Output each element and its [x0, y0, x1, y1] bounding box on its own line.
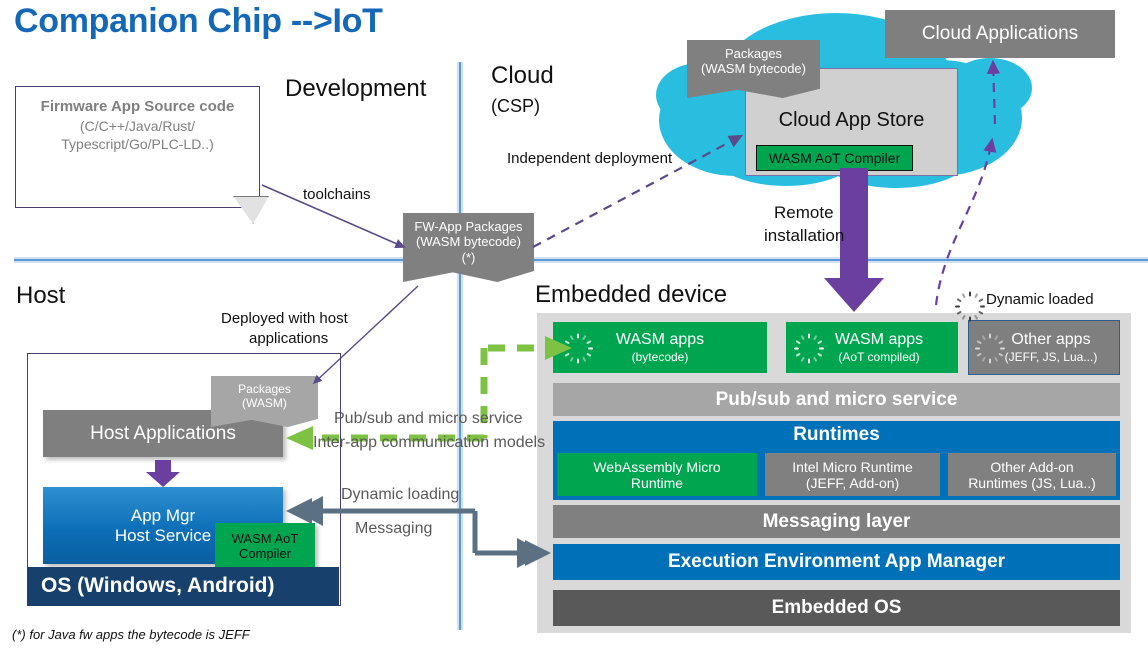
label-messaging: Messaging — [355, 520, 432, 538]
label-inter-app-models: Inter-app communication models — [313, 434, 545, 452]
callout-fw-app-packages: FW-App Packages (WASM bytecode) (*) — [403, 213, 534, 282]
host-packages-line2: (WASM) — [211, 396, 318, 410]
label-toolchains: toolchains — [303, 186, 371, 203]
source-title: Firmware App Source code — [16, 98, 259, 115]
heading-embedded-device: Embedded device — [535, 281, 727, 309]
dynamic-loaded-icon — [569, 333, 587, 351]
embedded-os-label: Embedded OS — [772, 597, 902, 619]
callout-cloud-packages: Packages (WASM bytecode) — [687, 40, 820, 98]
embedded-os-box[interactable]: Embedded OS — [553, 590, 1120, 626]
host-aot-line1: WASM AoT — [232, 531, 299, 546]
source-box-fold-tag — [233, 196, 269, 224]
fw-packages-line1: FW-App Packages — [403, 219, 534, 234]
embedded-app-2-title: Other apps — [1005, 331, 1098, 349]
cloud-wasm-aot-compiler[interactable]: WASM AoT Compiler — [756, 145, 913, 171]
slide-canvas: Companion Chip -->IoT Development Cloud … — [0, 0, 1148, 653]
host-app-mgr-line2: Host Service — [115, 526, 211, 546]
cloud-packages-line2: (WASM bytecode) — [687, 61, 820, 76]
host-aot-line2: Compiler — [239, 546, 291, 561]
embedded-app-manager-label: Execution Environment App Manager — [668, 551, 1005, 573]
embedded-runtimes-title: Runtimes — [553, 421, 1120, 446]
embedded-runtime-1-line1: Intel Micro Runtime — [792, 459, 913, 475]
embedded-runtime-1[interactable]: Intel Micro Runtime (JEFF, Add-on) — [765, 453, 940, 496]
heading-development: Development — [285, 75, 426, 103]
embedded-app-2[interactable]: Other apps (JEFF, JS, Lua...) — [968, 320, 1120, 375]
horizontal-divider-left — [14, 259, 442, 261]
embedded-runtime-0-line2: Runtime — [631, 475, 683, 491]
fw-packages-line3: (*) — [403, 250, 534, 265]
page-title: Companion Chip -->IoT — [14, 2, 383, 41]
embedded-app-manager[interactable]: Execution Environment App Manager — [553, 544, 1120, 580]
horizontal-divider-right — [442, 259, 1148, 261]
label-dynamic-loading: Dynamic loading — [341, 486, 459, 504]
cloud-applications-box[interactable]: Cloud Applications — [885, 10, 1115, 58]
label-pubsub-micro-service: Pub/sub and micro service — [334, 410, 523, 428]
heading-cloud: Cloud — [491, 62, 554, 90]
embedded-app-1[interactable]: WASM apps (AoT compiled) — [786, 322, 958, 373]
label-remote-installation-line2: installation — [764, 226, 844, 246]
source-line2: (C/C++/Java/Rust/ — [16, 118, 259, 134]
cloud-app-store-title: Cloud App Store — [746, 109, 957, 132]
embedded-app-0-title: WASM apps — [616, 331, 704, 349]
label-deployed-with-host-line1: Deployed with host — [221, 310, 348, 327]
label-deployed-with-host-line2: applications — [249, 330, 328, 347]
host-packages-line1: Packages — [211, 382, 318, 396]
embedded-pubsub-label: Pub/sub and micro service — [716, 389, 958, 411]
firmware-source-code-box: Firmware App Source code (C/C++/Java/Rus… — [15, 86, 260, 208]
cloud-applications-label: Cloud Applications — [922, 23, 1078, 45]
host-os-box[interactable]: OS (Windows, Android) — [27, 567, 339, 606]
cloud-aot-label: WASM AoT Compiler — [769, 150, 900, 166]
embedded-runtime-2[interactable]: Other Add-on Runtimes (JS, Lua..) — [948, 453, 1116, 496]
heading-host: Host — [16, 282, 65, 310]
arrow-cloud-applications-up — [993, 62, 995, 124]
host-app-mgr-line1: App Mgr — [131, 506, 195, 526]
embedded-app-1-sub: (AoT compiled) — [835, 350, 923, 364]
embedded-messaging-layer[interactable]: Messaging layer — [553, 505, 1120, 538]
label-remote-installation-line1: Remote — [774, 203, 834, 223]
embedded-pubsub-layer[interactable]: Pub/sub and micro service — [553, 383, 1120, 416]
callout-host-packages: Packages (WASM) — [211, 376, 318, 427]
dynamic-loaded-icon — [800, 333, 818, 351]
footnote: (*) for Java fw apps the bytecode is JEF… — [12, 627, 250, 642]
source-line3: Typescript/Go/PLC-LD..) — [16, 136, 259, 152]
label-independent-deployment: Independent deployment — [507, 150, 672, 167]
dynamic-loaded-icon — [981, 333, 999, 351]
host-wasm-aot-compiler[interactable]: WASM AoT Compiler — [215, 523, 315, 568]
embedded-runtime-1-line2: (JEFF, Add-on) — [806, 475, 899, 491]
embedded-runtime-0-line1: WebAssembly Micro — [593, 459, 720, 475]
embedded-runtime-2-line2: Runtimes (JS, Lua..) — [968, 475, 1096, 491]
embedded-app-2-sub: (JEFF, JS, Lua...) — [1005, 350, 1098, 364]
embedded-app-0-sub: (bytecode) — [616, 350, 704, 364]
embedded-runtime-2-line1: Other Add-on — [990, 459, 1073, 475]
embedded-messaging-label: Messaging layer — [763, 511, 911, 533]
embedded-runtime-0[interactable]: WebAssembly Micro Runtime — [557, 453, 757, 496]
embedded-app-1-title: WASM apps — [835, 331, 923, 349]
fw-packages-line2: (WASM bytecode) — [403, 234, 534, 249]
dynamic-loaded-legend-label: Dynamic loaded — [986, 291, 1094, 308]
vertical-divider — [459, 62, 461, 630]
host-os-label: OS (Windows, Android) — [27, 567, 339, 598]
cloud-packages-line1: Packages — [687, 46, 820, 61]
heading-cloud-sub: (CSP) — [491, 96, 540, 117]
embedded-app-0[interactable]: WASM apps (bytecode) — [553, 322, 767, 373]
dynamic-loaded-legend-icon — [960, 290, 980, 310]
